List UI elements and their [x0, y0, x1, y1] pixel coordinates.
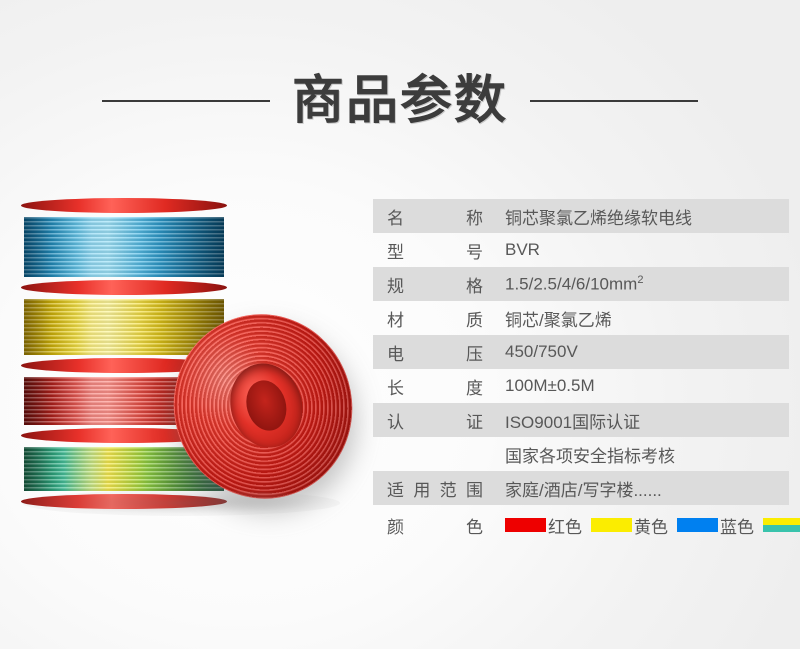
- spec-label: 认证: [387, 408, 505, 433]
- title-rule-right: [530, 100, 698, 102]
- spec-value-sup: 2: [637, 274, 643, 286]
- photo-shadow: [22, 490, 340, 516]
- spec-label: 电压: [387, 340, 505, 365]
- color-swatch-dual-top: [763, 518, 800, 525]
- spec-value: 铜芯/聚氯乙烯: [505, 306, 789, 331]
- spec-label: 名称: [387, 204, 505, 229]
- spec-value: 1.5/2.5/4/6/10mm2: [505, 274, 789, 295]
- spec-row: 长度 100M±0.5M: [373, 369, 789, 403]
- spec-row-continuation: 国家各项安全指标考核: [373, 437, 789, 471]
- color-swatch-blue: [677, 518, 718, 532]
- color-swatch-yellow: [591, 518, 632, 532]
- product-spec-page: 商品参数: [0, 0, 800, 649]
- color-item-dual: 双色: [763, 513, 800, 538]
- color-row: 颜色 红色 黄色 蓝色: [373, 505, 789, 545]
- color-swatch-dual: [763, 518, 800, 532]
- color-swatch-list: 红色 黄色 蓝色 双色: [505, 513, 800, 538]
- spec-label: 适用范围: [387, 476, 505, 501]
- spec-value: BVR: [505, 240, 789, 260]
- color-swatch-red: [505, 518, 546, 532]
- title-rule-left: [102, 100, 270, 102]
- spec-value: 铜芯聚氯乙烯绝缘软电线: [505, 204, 789, 229]
- spec-value-text: 1.5/2.5/4/6/10mm: [505, 274, 637, 293]
- spec-table: 名称 铜芯聚氯乙烯绝缘软电线 型号 BVR 规格 1.5/2.5/4/6/10m…: [373, 199, 789, 545]
- spec-label: 规格: [387, 272, 505, 297]
- title-block: 商品参数: [0, 62, 800, 140]
- spec-value: 家庭/酒店/写字楼......: [505, 476, 789, 501]
- spec-value: 450/750V: [505, 342, 789, 362]
- spec-label: 材质: [387, 306, 505, 331]
- color-item-red: 红色: [505, 513, 582, 538]
- spec-value: ISO9001国际认证: [505, 408, 789, 433]
- color-name-yellow: 黄色: [634, 513, 668, 538]
- spec-row: 认证 ISO9001国际认证: [373, 403, 789, 437]
- spec-value: 国家各项安全指标考核: [505, 442, 789, 467]
- spec-label: 长度: [387, 374, 505, 399]
- spec-label: 型号: [387, 238, 505, 263]
- spec-row: 适用范围 家庭/酒店/写字楼......: [373, 471, 789, 505]
- product-photo: [6, 186, 354, 520]
- color-row-label: 颜色: [387, 513, 505, 538]
- coil-blue: [24, 208, 224, 286]
- color-name-blue: 蓝色: [720, 513, 754, 538]
- spec-row: 型号 BVR: [373, 233, 789, 267]
- spec-row: 规格 1.5/2.5/4/6/10mm2: [373, 267, 789, 301]
- color-swatch-dual-bottom: [763, 525, 800, 532]
- page-title: 商品参数: [292, 75, 508, 127]
- color-name-red: 红色: [548, 513, 582, 538]
- spec-row: 电压 450/750V: [373, 335, 789, 369]
- color-item-blue: 蓝色: [677, 513, 754, 538]
- spec-row: 材质 铜芯/聚氯乙烯: [373, 301, 789, 335]
- spec-value: 100M±0.5M: [505, 376, 789, 396]
- color-item-yellow: 黄色: [591, 513, 668, 538]
- spec-row: 名称 铜芯聚氯乙烯绝缘软电线: [373, 199, 789, 233]
